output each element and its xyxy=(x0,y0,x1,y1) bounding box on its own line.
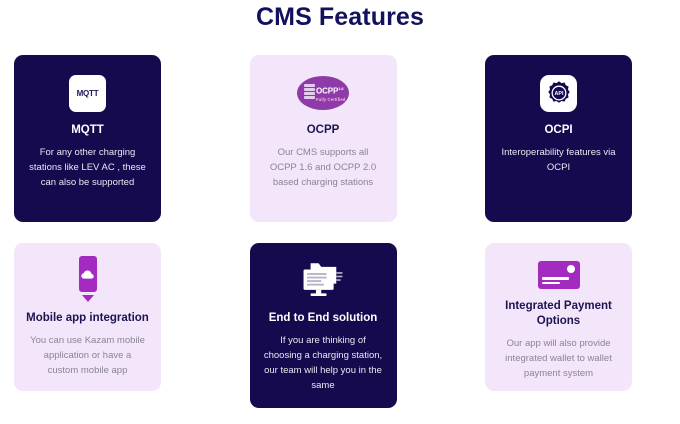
feature-card-mqtt[interactable]: MQTT MQTT For any other charging station… xyxy=(14,55,161,222)
ocpp-logo-name: OCPP1.6 xyxy=(316,84,345,96)
mobile-phone-body xyxy=(79,256,97,292)
feature-card-title: OCPI xyxy=(544,123,572,138)
ocpp-logo-version: 1.6 xyxy=(338,86,343,91)
feature-card-end-to-end-solution[interactable]: End to End solution If you are thinking … xyxy=(250,243,397,408)
mqtt-badge-icon: MQTT xyxy=(69,75,106,112)
cloud-icon-svg xyxy=(81,270,94,279)
feature-card-description: Interoperability features via OCPI xyxy=(493,145,624,175)
feature-card-description: If you are thinking of choosing a chargi… xyxy=(258,333,389,393)
credit-card-icon xyxy=(538,261,580,289)
ocpi-icon-wrap: API xyxy=(540,67,577,119)
mqtt-icon-wrap: MQTT xyxy=(69,67,106,119)
cms-features-page: CMS Features MQTT MQTT For any other cha… xyxy=(0,0,680,424)
ocpp-icon-wrap: OCPP1.6 Fully Certified xyxy=(297,67,349,119)
end-to-end-icon-wrap xyxy=(300,255,346,307)
feature-card-title: MQTT xyxy=(71,123,104,138)
feature-card-title: Mobile app integration xyxy=(26,311,149,326)
mobile-icon-wrap xyxy=(73,255,103,307)
svg-text:API: API xyxy=(554,91,563,97)
feature-card-grid: MQTT MQTT For any other charging station… xyxy=(14,55,632,408)
feature-card-description: For any other charging stations like LEV… xyxy=(22,145,153,190)
monitor-document-icon xyxy=(300,261,346,301)
payment-icon-wrap xyxy=(538,255,580,295)
feature-card-description: You can use Kazam mobile application or … xyxy=(22,333,153,378)
feature-card-ocpp[interactable]: OCPP1.6 Fully Certified OCPP Our CMS sup… xyxy=(250,55,397,222)
api-gear-icon: API xyxy=(540,75,577,112)
feature-card-title: Integrated Payment Options xyxy=(493,299,624,329)
mobile-down-arrow-icon xyxy=(82,295,94,302)
ocpp-logo-certified: Fully Certified xyxy=(316,97,345,102)
feature-row-bottom: Mobile app integration You can use Kazam… xyxy=(14,243,632,408)
feature-card-title: End to End solution xyxy=(269,311,378,326)
ocpp-certified-logo-icon: OCPP1.6 Fully Certified xyxy=(297,76,349,110)
ocpp-logo-text: OCPP1.6 Fully Certified xyxy=(316,84,345,102)
credit-card-line-2 xyxy=(542,282,560,285)
feature-card-ocpi[interactable]: API OCPI Interoperability features via O… xyxy=(485,55,632,222)
credit-card-line-1 xyxy=(542,277,569,280)
mqtt-badge-label: MQTT xyxy=(77,89,99,98)
feature-card-description: Our CMS supports all OCPP 1.6 and OCPP 2… xyxy=(258,145,389,190)
feature-card-mobile-app-integration[interactable]: Mobile app integration You can use Kazam… xyxy=(14,243,161,391)
feature-card-title: OCPP xyxy=(307,123,340,138)
gear-icon-svg: API xyxy=(546,80,572,106)
feature-card-description: Our app will also provide integrated wal… xyxy=(493,336,624,381)
ocpp-logo-bars xyxy=(304,84,316,103)
feature-card-integrated-payment-options[interactable]: Integrated Payment Options Our app will … xyxy=(485,243,632,391)
page-title: CMS Features xyxy=(0,0,680,32)
mobile-cloud-upload-icon xyxy=(73,256,103,306)
feature-row-top: MQTT MQTT For any other charging station… xyxy=(14,55,632,222)
credit-card-chip-dot xyxy=(567,265,575,273)
